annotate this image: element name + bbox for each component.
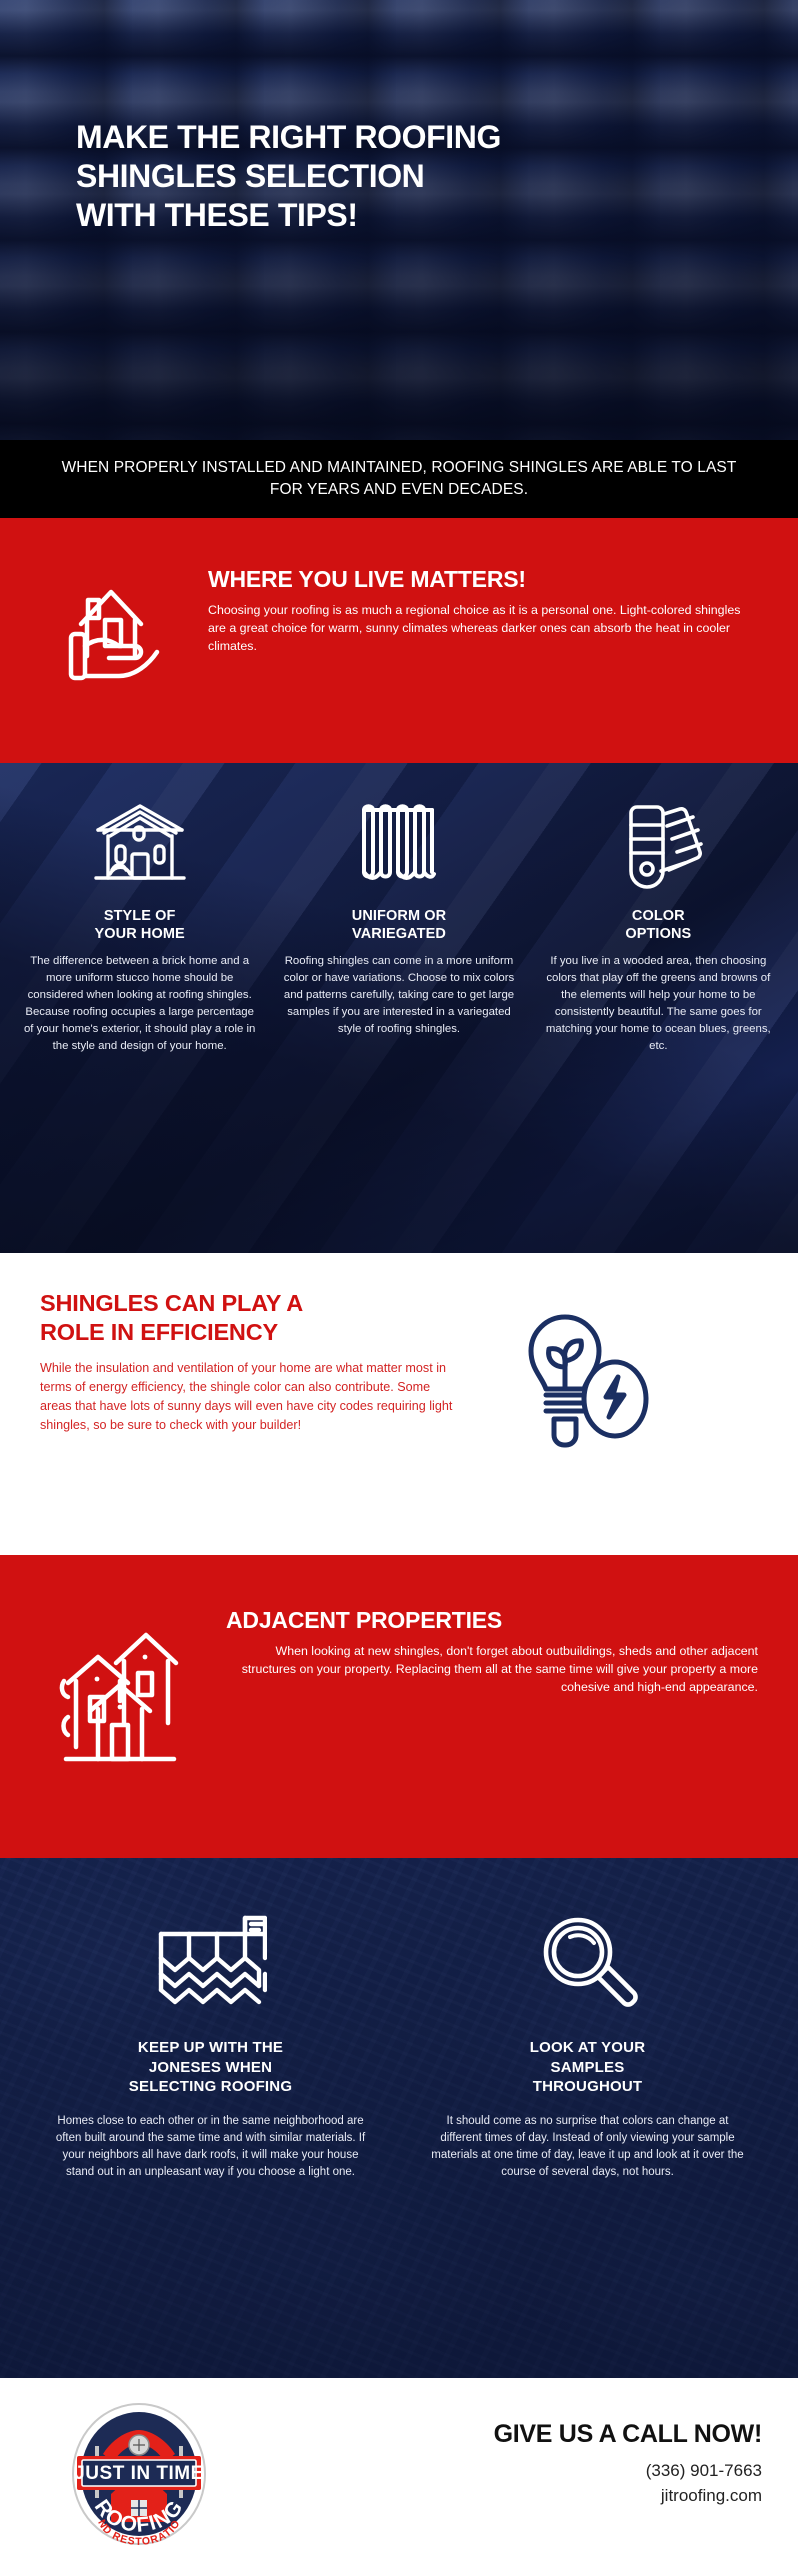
house-in-hand-icon <box>36 548 186 692</box>
where-you-live-copy: WHERE YOU LIVE MATTERS! Choosing your ro… <box>208 548 758 656</box>
section-title: WHERE YOU LIVE MATTERS! <box>208 566 758 593</box>
page-title: MAKE THE RIGHT ROOFING SHINGLES SELECTIO… <box>76 118 716 235</box>
section-body: When looking at new shingles, don't forg… <box>226 1642 758 1697</box>
lightbulb-leaf-bolt-icon <box>478 1289 678 1455</box>
efficiency-title-line-2: ROLE IN EFFICIENCY <box>40 1319 278 1345</box>
column-title-line-2: YOUR HOME <box>95 926 185 942</box>
column-title: LOOK AT YOUR SAMPLES THROUGHOUT <box>530 2038 645 2097</box>
column-color-options: COLOR OPTIONS If you live in a wooded ar… <box>529 797 788 1233</box>
column-title-line-2: JONESES WHEN <box>149 2059 272 2076</box>
hero-title-line-3: WITH THESE TIPS! <box>76 196 716 235</box>
column-title-line-1: KEEP UP WITH THE <box>138 2039 283 2056</box>
column-title: COLOR OPTIONS <box>625 907 691 943</box>
column-title-line-2: SAMPLES <box>551 2059 625 2076</box>
column-body: Homes close to each other or in the same… <box>48 2113 373 2182</box>
footer-section: JUST IN TIME ROOFING AND RESTORATION GIV… <box>0 2378 798 2560</box>
just-in-time-roofing-logo[interactable]: JUST IN TIME ROOFING AND RESTORATION <box>44 2400 234 2552</box>
where-you-live-section: WHERE YOU LIVE MATTERS! Choosing your ro… <box>0 518 798 763</box>
phone-number[interactable]: (336) 901-7663 <box>258 2459 762 2484</box>
column-title-line-3: SELECTING ROOFING <box>129 2078 292 2095</box>
hero-title-line-1: MAKE THE RIGHT ROOFING <box>76 118 716 157</box>
column-keep-up-with-joneses: KEEP UP WITH THE JONESES WHEN SELECTING … <box>22 1906 399 2378</box>
infographic-page: MAKE THE RIGHT ROOFING SHINGLES SELECTIO… <box>0 0 798 2560</box>
corrugated-panels-icon <box>356 797 442 895</box>
efficiency-section: SHINGLES CAN PLAY A ROLE IN EFFICIENCY W… <box>0 1253 798 1555</box>
intro-text: WHEN PROPERLY INSTALLED AND MAINTAINED, … <box>54 457 744 502</box>
website-url[interactable]: jitroofing.com <box>258 2484 762 2509</box>
three-houses-icon <box>36 1597 206 1771</box>
efficiency-title-line-1: SHINGLES CAN PLAY A <box>40 1290 303 1316</box>
cta-title: GIVE US A CALL NOW! <box>258 2420 762 2449</box>
section-title: ADJACENT PROPERTIES <box>226 1607 758 1634</box>
logo-primary-text: JUST IN TIME <box>74 2463 204 2484</box>
section-title: SHINGLES CAN PLAY A ROLE IN EFFICIENCY <box>40 1289 460 1347</box>
column-title: UNIFORM OR VARIEGATED <box>352 907 446 943</box>
efficiency-copy: SHINGLES CAN PLAY A ROLE IN EFFICIENCY W… <box>40 1289 460 1435</box>
section-body: While the insulation and ventilation of … <box>40 1359 460 1435</box>
hero-title-line-2: SHINGLES SELECTION <box>76 157 716 196</box>
column-title-line-1: COLOR <box>632 908 685 924</box>
column-body: The difference between a brick home and … <box>22 953 257 1054</box>
column-style-of-your-home: STYLE OF YOUR HOME The difference betwee… <box>10 797 269 1233</box>
column-body: Roofing shingles can come in a more unif… <box>281 953 516 1037</box>
column-uniform-or-variegated: UNIFORM OR VARIEGATED Roofing shingles c… <box>269 797 528 1233</box>
column-body: If you live in a wooded area, then choos… <box>541 953 776 1054</box>
column-title-line-2: OPTIONS <box>625 926 691 942</box>
column-title-line-2: VARIEGATED <box>352 926 446 942</box>
column-title-line-1: LOOK AT YOUR <box>530 2039 645 2056</box>
shingle-rows-building-icon <box>155 1906 267 2022</box>
intro-section: WHEN PROPERLY INSTALLED AND MAINTAINED, … <box>0 440 798 518</box>
hero-section: MAKE THE RIGHT ROOFING SHINGLES SELECTIO… <box>0 0 798 440</box>
column-title: KEEP UP WITH THE JONESES WHEN SELECTING … <box>129 2038 292 2097</box>
contact-block: GIVE US A CALL NOW! (336) 901-7663 jitro… <box>258 2400 762 2508</box>
column-title-line-3: THROUGHOUT <box>533 2078 643 2095</box>
three-column-section: STYLE OF YOUR HOME The difference betwee… <box>0 763 798 1253</box>
magnifying-glass-icon <box>536 1906 640 2022</box>
column-title-line-1: UNIFORM OR <box>352 908 446 924</box>
column-body: It should come as no surprise that color… <box>425 2113 750 2182</box>
adjacent-properties-copy: ADJACENT PROPERTIES When looking at new … <box>226 1597 758 1697</box>
color-swatch-fan-icon <box>611 797 705 895</box>
column-look-at-your-samples: LOOK AT YOUR SAMPLES THROUGHOUT It shoul… <box>399 1906 776 2378</box>
house-with-roof-icon <box>92 797 188 895</box>
section-body: Choosing your roofing is as much a regio… <box>208 601 758 656</box>
column-title: STYLE OF YOUR HOME <box>95 907 185 943</box>
two-column-section: KEEP UP WITH THE JONESES WHEN SELECTING … <box>0 1858 798 2378</box>
adjacent-properties-section: ADJACENT PROPERTIES When looking at new … <box>0 1555 798 1858</box>
column-title-line-1: STYLE OF <box>104 908 176 924</box>
